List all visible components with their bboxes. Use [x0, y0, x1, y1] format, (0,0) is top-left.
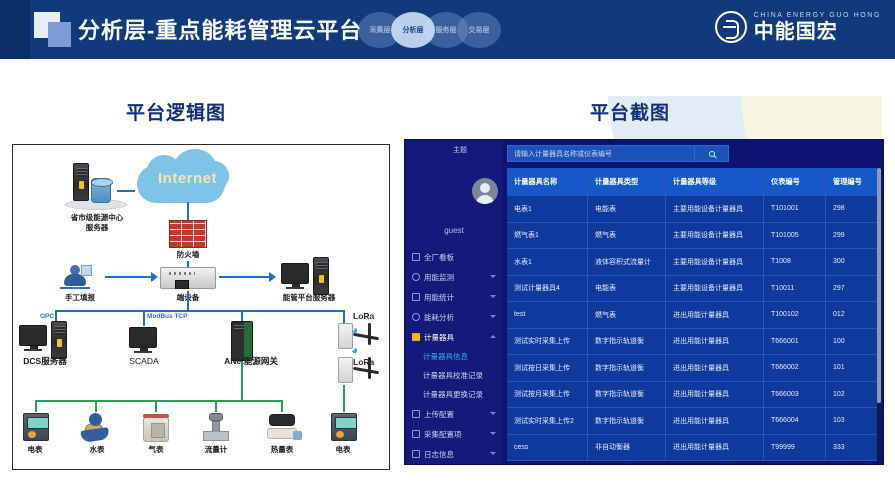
- search-bar[interactable]: 请输入计量器具名称或仪表编号: [507, 145, 729, 162]
- manual-entry-screen-icon: [81, 265, 92, 276]
- wifi-signal-icon-2: ◕: [351, 345, 364, 356]
- cell-instrument-no: T666004: [764, 408, 826, 434]
- cell-type: 电能表: [588, 276, 666, 302]
- theme-label[interactable]: 主题: [453, 145, 467, 155]
- column-header-management-no: 管理编号: [826, 168, 877, 196]
- cell-name: cess: [507, 435, 588, 461]
- cell-management-no: 100: [826, 329, 877, 355]
- bus-drop-lora: [343, 310, 345, 324]
- cell-type: 非自动衡器: [588, 435, 666, 461]
- electric-meter-icon: [23, 413, 49, 441]
- lora-antenna-icon-2: [353, 367, 379, 374]
- header-accent-bar: [0, 0, 30, 59]
- sidebar-item-upload-config[interactable]: 上传配置: [405, 404, 503, 424]
- sidebar-item-energy-monitor[interactable]: 用能监测: [405, 267, 503, 287]
- cell-name: 测试实时采集上传: [507, 329, 588, 355]
- cell-name: 测试按日采集上传: [507, 355, 588, 381]
- lora-device-icon-2: [338, 357, 353, 383]
- cell-type: 数字指示轨道衡: [588, 329, 666, 355]
- table-row[interactable]: 电表1 电能表 主要用能设备计量器具 T101001 298: [507, 196, 877, 223]
- section-title-logic-diagram: 平台逻辑图: [126, 98, 226, 125]
- lora-label-1: LoRa: [353, 311, 374, 321]
- table-header-row: 计量器具名称 计量器具类型 计量器具等级 仪表编号 管理编号: [507, 168, 877, 196]
- sidebar-subitem-calibration-records[interactable]: 计量器具校准记录: [405, 366, 503, 385]
- cell-instrument-no: T100102: [764, 302, 826, 328]
- cell-grade: 主要用能设备计量器具: [666, 276, 764, 302]
- cell-instrument-no: T1008: [764, 249, 826, 275]
- water-meter-top-icon: [89, 413, 102, 426]
- sidebar-item-label: 采集配置项: [424, 429, 462, 440]
- sidebar-item-dashboard[interactable]: 全厂看板: [405, 247, 503, 267]
- cell-management-no: 101: [826, 355, 877, 381]
- sidebar-subitem-label: 计量器具更换记录: [423, 389, 483, 400]
- sidebar-subitem-label: 计量器具校准记录: [423, 370, 483, 381]
- cell-type: 电能表: [588, 196, 666, 222]
- gas-meter-icon: [143, 417, 169, 442]
- cell-grade: 主要用能设备计量器具: [666, 196, 764, 222]
- meter-drop-5: [281, 400, 283, 412]
- logo-square-blue-icon: [48, 22, 71, 47]
- layer-circle-label: 分析层: [403, 25, 424, 35]
- sidebar-subitem-replacement-records[interactable]: 计量器具更换记录: [405, 385, 503, 404]
- firewall-icon: [169, 220, 207, 248]
- chevron-down-icon: [490, 412, 496, 415]
- dcs-monitor-icon: [19, 325, 47, 346]
- cell-type: 燃气表: [588, 302, 666, 328]
- sidebar-item-collect-config[interactable]: 采集配置项: [405, 424, 503, 444]
- chevron-down-icon: [490, 432, 496, 435]
- sidebar-item-energy-stats[interactable]: 用能统计: [405, 287, 503, 307]
- internet-label: Internet: [158, 170, 217, 187]
- cell-instrument-no: T101005: [764, 223, 826, 249]
- meter-drop-6: [343, 385, 345, 412]
- screenshot-main-panel: 请输入计量器具名称或仪表编号 计量器具名称 计量器具类型 计量器具等级 仪表编号…: [503, 140, 884, 465]
- cell-name: 测试计量器具4: [507, 276, 588, 302]
- page-title: 分析层-重点能耗管理云平台: [78, 13, 362, 45]
- vertical-scrollbar[interactable]: [877, 168, 881, 458]
- avatar[interactable]: [472, 178, 498, 204]
- sidebar-item-energy-analysis[interactable]: 能耗分析: [405, 307, 503, 327]
- table-row[interactable]: 测试计量器具4 电能表 主要用能设备计量器具 T10011 297: [507, 276, 877, 303]
- server-vents-icon: [317, 262, 327, 271]
- energy-center-label: 省市级能源中心 服务器: [53, 213, 141, 233]
- anet-gateway-label: ANet能源网关: [211, 356, 291, 367]
- meter-label-4: 热量表: [259, 445, 305, 455]
- analysis-icon: [412, 313, 420, 321]
- electric-meter-icon-2: [331, 413, 357, 441]
- meter-drop-4: [215, 400, 217, 412]
- bus-line-horizontal: [55, 310, 345, 312]
- table-row[interactable]: 燃气表1 燃气表 主要用能设备计量器具 T101005 299: [507, 223, 877, 250]
- wire-anet-meterbus: [241, 361, 243, 401]
- app-header: 分析层-重点能耗管理云平台 采集层 服务层 交易层 分析层 CHINA ENER…: [0, 0, 895, 59]
- cell-grade: 进出用能计量器具: [666, 408, 764, 434]
- sidebar-item-label: 用能统计: [424, 292, 454, 303]
- chevron-down-icon: [490, 315, 496, 318]
- platform-server-label: 能管平台服务器: [271, 293, 347, 303]
- cell-instrument-no: T101001: [764, 196, 826, 222]
- stats-icon: [412, 293, 420, 301]
- scada-monitor-icon: [129, 327, 157, 348]
- cell-name: 测试按月采集上传: [507, 382, 588, 408]
- cell-instrument-no: T10011: [764, 276, 826, 302]
- sidebar-subitem-label: 计量器具信息: [423, 351, 468, 362]
- gas-meter-cap-icon: [143, 414, 169, 418]
- monitor-icon: [412, 273, 420, 281]
- cell-type: 数字指示轨道衡: [588, 408, 666, 434]
- column-header-grade: 计量器具等级: [666, 168, 764, 196]
- meter-drop-3: [155, 400, 157, 412]
- sidebar-subitem-instrument-info[interactable]: 计量器具信息: [405, 347, 503, 366]
- energy-center-server-icon: [73, 163, 89, 201]
- table-row[interactable]: 测试按日采集上传 数字指示轨道衡 进出用能计量器具 T666002 101: [507, 355, 877, 382]
- cell-management-no: 103: [826, 408, 877, 434]
- server-vents-icon: [55, 326, 65, 335]
- upload-icon: [412, 410, 420, 418]
- cell-instrument-no: T99999: [764, 435, 826, 461]
- sidebar-item-label: 全厂看板: [424, 252, 454, 263]
- monitor-stand-icon: [286, 287, 304, 289]
- platform-logic-diagram: 省市级能源中心 服务器 Internet 防火墙 手工填报 端设备 能管平台服务…: [12, 144, 390, 470]
- wifi-signal-icon: ◕: [351, 325, 364, 336]
- layer-circle-label: 交易层: [469, 25, 490, 35]
- column-header-name: 计量器具名称: [507, 168, 588, 196]
- cell-management-no: 012: [826, 302, 877, 328]
- meter-label-3: 流量计: [193, 445, 239, 455]
- table-row[interactable]: cess 非自动衡器 进出用能计量器具 T99999 333: [507, 435, 877, 462]
- meter-label-0: 电表: [13, 445, 57, 455]
- gateway-vents-icon: [234, 325, 244, 331]
- cell-name: 水表1: [507, 249, 588, 275]
- cell-management-no: 298: [826, 196, 877, 222]
- table-row[interactable]: 测试实时采集上传 数字指示轨道衡 进出用能计量器具 T666001 100: [507, 329, 877, 356]
- server-vents-icon: [77, 168, 87, 177]
- cell-name: 电表1: [507, 196, 588, 222]
- meter-drop-1: [35, 400, 37, 412]
- cell-instrument-no: T666001: [764, 329, 826, 355]
- protocol-label-modbus: ModBus TCP: [147, 313, 187, 320]
- meter-label-2: 气表: [134, 445, 178, 455]
- brand-text: CHINA ENERGY GUO HONG 中能国宏: [754, 12, 881, 42]
- cell-management-no: 300: [826, 249, 877, 275]
- cell-management-no: 297: [826, 276, 877, 302]
- sidebar-item-label: 能耗分析: [424, 312, 454, 323]
- screenshot-sidebar: 主题 guest 全厂看板 用能监测 用能统计 能耗分析: [405, 140, 503, 465]
- monitor-stand-icon: [134, 351, 152, 353]
- meter-label-5: 电表: [321, 445, 365, 455]
- sidebar-item-label: 用能监测: [424, 272, 454, 283]
- scrollbar-thumb[interactable]: [877, 168, 881, 403]
- cell-name: 测试实时采集上传2: [507, 408, 588, 434]
- layer-circle-analysis[interactable]: 分析层: [391, 12, 435, 48]
- table-row[interactable]: 水表1 液体容积式流量计 主要用能设备计量器具 T1008 300: [507, 249, 877, 276]
- database-icon: [91, 178, 111, 203]
- chevron-down-icon: [490, 452, 496, 455]
- firewall-label: 防火墙: [153, 250, 223, 260]
- cell-grade: 主要用能设备计量器具: [666, 249, 764, 275]
- arrowhead-icon: [151, 272, 158, 282]
- monitor-stand-icon: [24, 349, 42, 351]
- platform-screenshot: 主题 guest 全厂看板 用能监测 用能统计 能耗分析: [404, 139, 884, 465]
- cell-type: 燃气表: [588, 223, 666, 249]
- cell-management-no: 333: [826, 435, 877, 461]
- sidebar-item-label: 日志信息: [424, 449, 454, 460]
- manual-entry-label: 手工填报: [51, 293, 109, 303]
- brand-english-name: CHINA ENERGY GUO HONG: [754, 12, 881, 19]
- protocol-label-opc: OPC: [40, 313, 54, 320]
- cell-grade: 主要用能设备计量器具: [666, 223, 764, 249]
- meter-label-1: 水表: [75, 445, 119, 455]
- edge-device-ports-icon: [169, 272, 195, 275]
- cell-management-no: 102: [826, 382, 877, 408]
- instruments-table: 计量器具名称 计量器具类型 计量器具等级 仪表编号 管理编号 电表1 电能表 主…: [507, 168, 877, 461]
- layer-circle-trade[interactable]: 交易层: [457, 12, 501, 48]
- table-row[interactable]: test 燃气表 进出用能计量器具 T100102 012: [507, 302, 877, 329]
- meter-drop-2: [95, 400, 97, 412]
- lora-label-2: LoRa: [353, 357, 374, 367]
- dcs-server-tower-icon: [51, 321, 67, 359]
- cell-name: 燃气表1: [507, 223, 588, 249]
- chevron-up-icon: [490, 335, 496, 338]
- platform-server-tower-icon: [313, 257, 329, 295]
- flow-meter-body-icon: [203, 431, 229, 441]
- arrowhead-icon: [269, 272, 276, 282]
- brand-mark-icon: [715, 11, 747, 43]
- wire-edge-platform: [219, 276, 271, 278]
- manual-entry-desk-icon: [60, 287, 90, 289]
- wire-edge-bus: [187, 291, 189, 311]
- table-row[interactable]: 测试实时采集上传2 数字指示轨道衡 进出用能计量器具 T666004 103: [507, 408, 877, 435]
- wire-internet-firewall: [187, 202, 189, 220]
- cell-instrument-no: T666002: [764, 355, 826, 381]
- cell-instrument-no: T666003: [764, 382, 826, 408]
- scada-label: SCADA: [117, 356, 171, 367]
- dashboard-icon: [412, 253, 420, 261]
- anet-gateway-icon: [231, 321, 253, 361]
- cell-name: test: [507, 302, 588, 328]
- edge-device-icon: [160, 267, 216, 289]
- cell-grade: 进出用能计量器具: [666, 382, 764, 408]
- layer-circle-label: 服务层: [436, 25, 457, 35]
- cell-type: 液体容积式流量计: [588, 249, 666, 275]
- water-meter-body-icon: [80, 427, 109, 443]
- wire-center-internet: [117, 190, 135, 192]
- chevron-down-icon: [490, 275, 496, 278]
- column-header-type: 计量器具类型: [588, 168, 666, 196]
- dcs-server-label: DCS服务器: [13, 356, 77, 367]
- username-label: guest: [405, 226, 503, 235]
- cell-type: 数字指示轨道衡: [588, 382, 666, 408]
- sidebar-menu: 全厂看板 用能监测 用能统计 能耗分析 计量器具: [405, 247, 503, 464]
- brand-chinese-name: 中能国宏: [754, 22, 881, 42]
- heat-meter-display-icon: [269, 414, 295, 426]
- table-row[interactable]: 测试按月采集上传 数字指示轨道衡 进出用能计量器具 T666003 102: [507, 382, 877, 409]
- sidebar-item-measuring-instruments[interactable]: 计量器具: [405, 327, 503, 347]
- flow-meter-head-icon: [209, 413, 223, 421]
- cell-grade: 进出用能计量器具: [666, 302, 764, 328]
- search-icon: [709, 151, 715, 157]
- cell-type: 数字指示轨道衡: [588, 355, 666, 381]
- layer-circle-label: 采集层: [370, 25, 391, 35]
- section-title-platform-screenshot: 平台截图: [590, 98, 670, 125]
- platform-server-monitor-icon: [281, 263, 309, 284]
- chevron-down-icon: [490, 295, 496, 298]
- search-input[interactable]: 请输入计量器具名称或仪表编号: [508, 149, 694, 159]
- meter-bus-line: [35, 400, 283, 402]
- bus-drop-scada: [143, 310, 145, 326]
- collect-icon: [412, 430, 420, 438]
- log-icon: [412, 450, 420, 458]
- column-header-instrument-no: 仪表编号: [764, 168, 826, 196]
- meter-icon: [412, 333, 420, 341]
- cell-grade: 进出用能计量器具: [666, 435, 764, 461]
- wire-manual-edge: [105, 276, 153, 278]
- sidebar-item-log-info[interactable]: 日志信息: [405, 444, 503, 464]
- cell-management-no: 299: [826, 223, 877, 249]
- brand-logo: CHINA ENERGY GUO HONG 中能国宏: [715, 11, 881, 43]
- sidebar-item-label: 计量器具: [424, 332, 454, 343]
- lora-antenna-mast-icon: [368, 323, 371, 345]
- cell-grade: 进出用能计量器具: [666, 329, 764, 355]
- sidebar-item-label: 上传配置: [424, 409, 454, 420]
- cell-grade: 进出用能计量器具: [666, 355, 764, 381]
- search-button[interactable]: [694, 145, 728, 162]
- heat-meter-pipe-icon: [293, 431, 302, 440]
